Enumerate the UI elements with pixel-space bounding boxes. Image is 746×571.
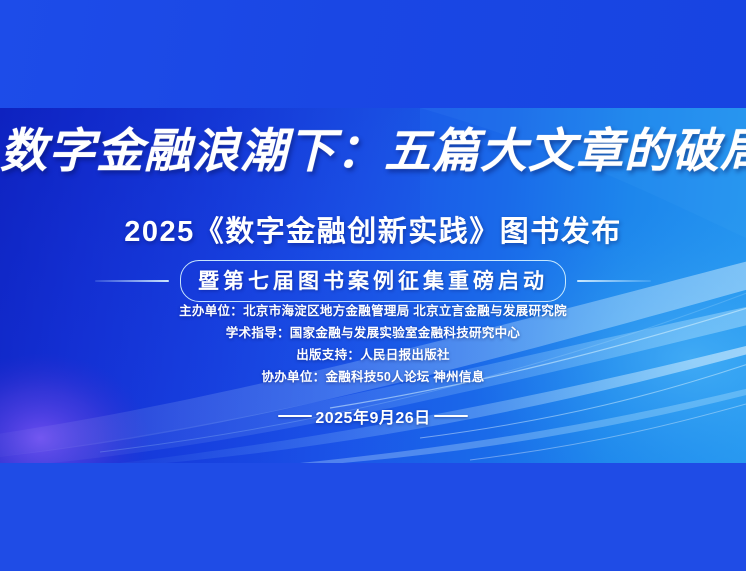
date-row: 2025年9月26日: [0, 404, 746, 428]
poster-content: 数字金融浪潮下：五篇大文章的破局与重构 2025《数字金融创新实践》图书发布 暨…: [0, 108, 746, 463]
poster-page: 数字金融浪潮下：五篇大文章的破局与重构 2025《数字金融创新实践》图书发布 暨…: [0, 0, 746, 571]
credit-line-publishing-support: 出版支持：人民日报出版社: [0, 344, 746, 366]
poster-subtitle: 2025《数字金融创新实践》图书发布: [0, 208, 746, 250]
credits-block: 主办单位：北京市海淀区地方金融管理局 北京立言金融与发展研究院 学术指导：国家金…: [0, 300, 746, 388]
top-background-fill: [0, 0, 746, 108]
rule-left-decoration: [95, 280, 169, 282]
credit-line-co-organizer: 协办单位：金融科技50人论坛 神州信息: [0, 366, 746, 388]
dash-left-decoration: [278, 415, 312, 418]
rule-right-decoration: [577, 280, 651, 282]
dash-right-decoration: [434, 415, 468, 418]
launch-pill-label: 暨第七届图书案例征集重磅启动: [180, 260, 566, 302]
credit-line-organizer: 主办单位：北京市海淀区地方金融管理局 北京立言金融与发展研究院: [0, 300, 746, 322]
event-date: 2025年9月26日: [315, 404, 430, 428]
bottom-background-fill: [0, 463, 746, 571]
page-title: 数字金融浪潮下：五篇大文章的破局与重构: [0, 128, 746, 177]
credit-line-academic-guidance: 学术指导：国家金融与发展实验室金融科技研究中心: [0, 322, 746, 344]
pill-row: 暨第七届图书案例征集重磅启动: [0, 260, 746, 302]
